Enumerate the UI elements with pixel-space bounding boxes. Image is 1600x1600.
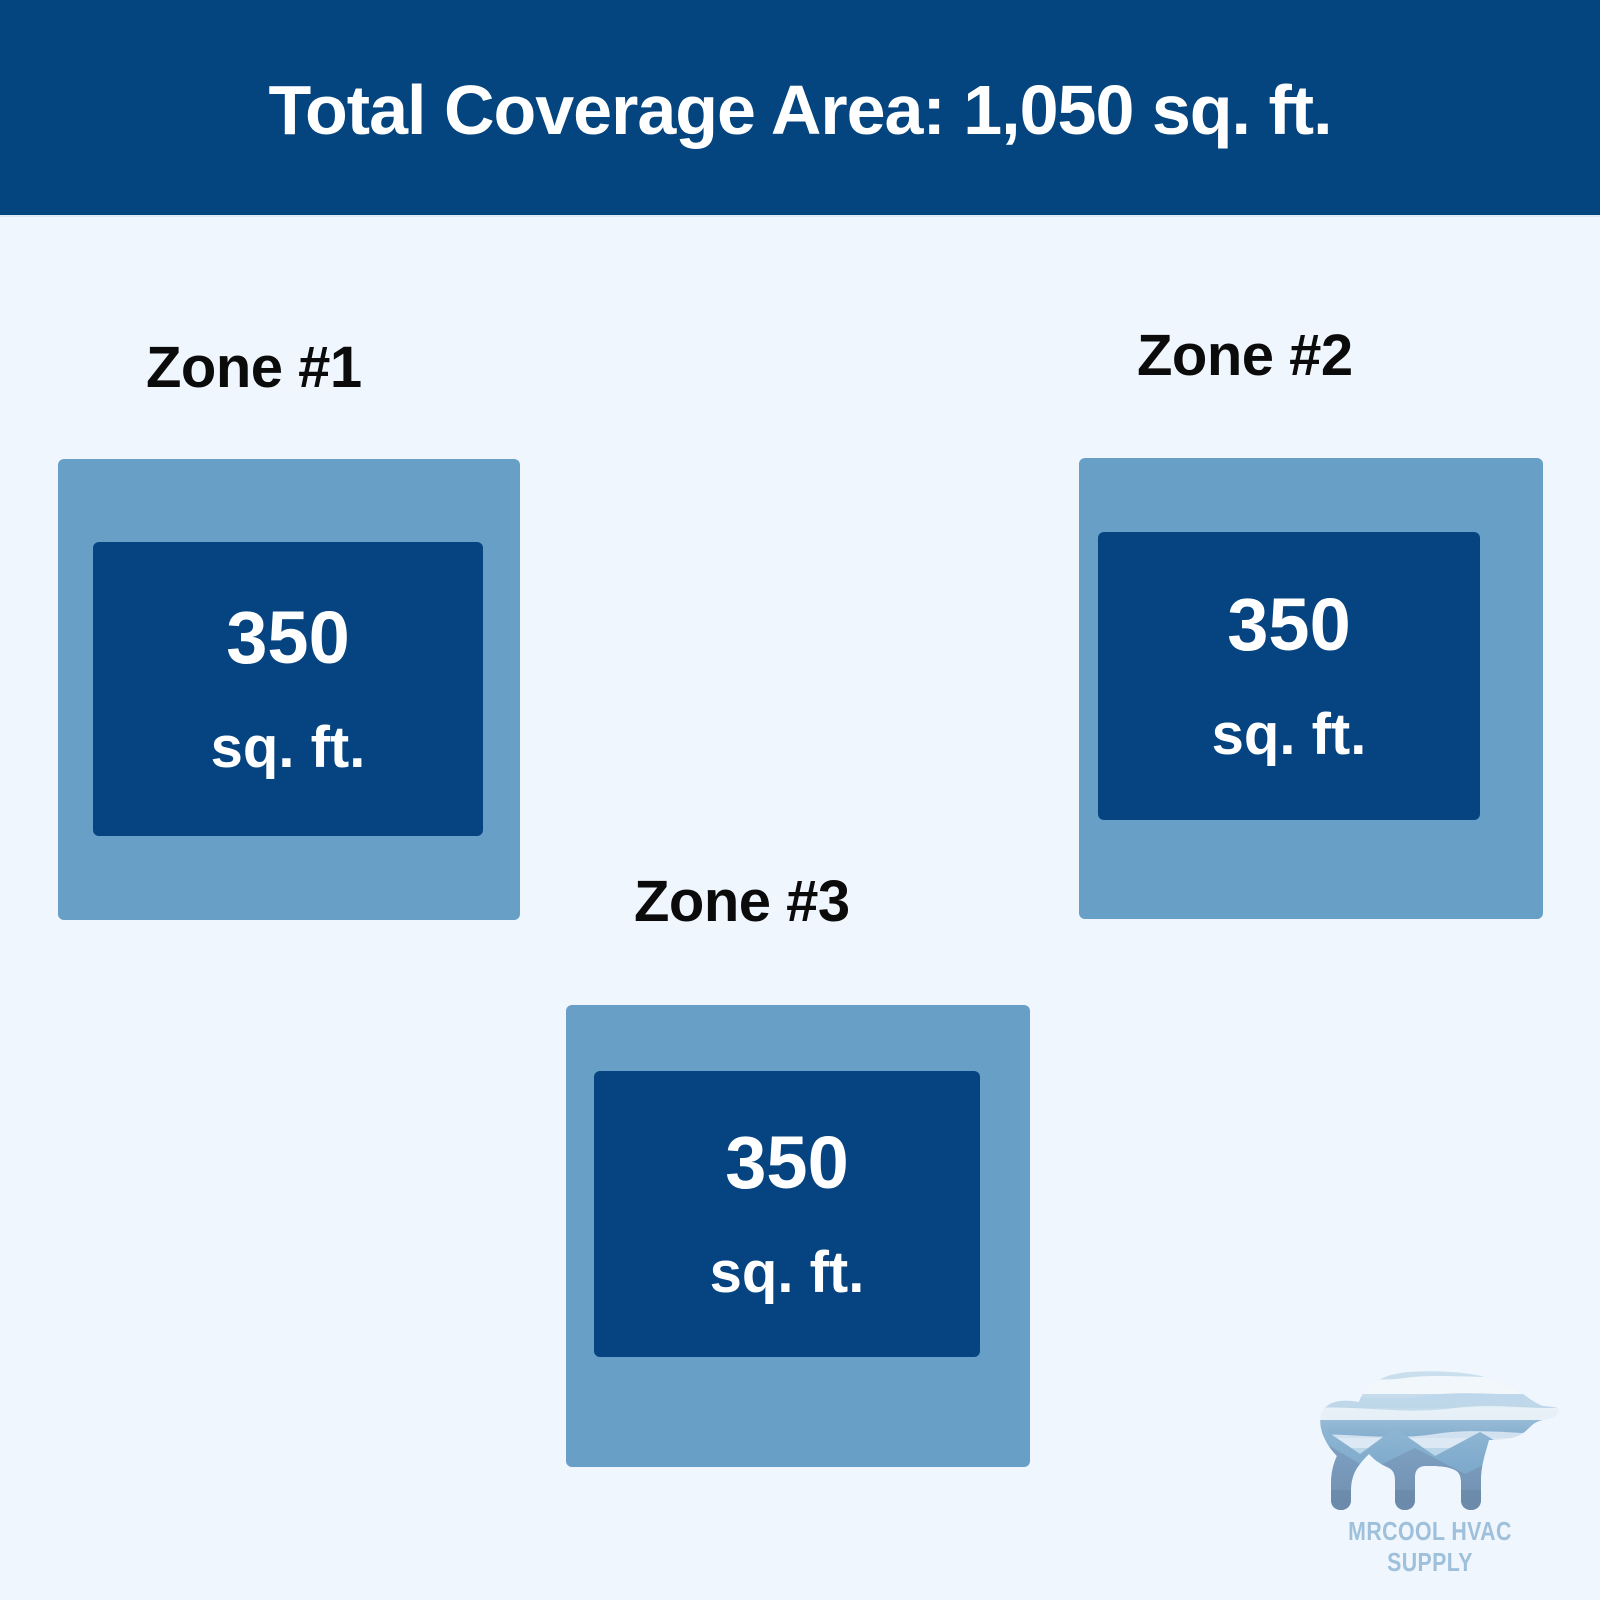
zone-3-unit: sq. ft. [710,1244,865,1302]
zone-1-outer-area: 350 sq. ft. [58,459,520,920]
zone-3-coverage-card: 350 sq. ft. [594,1071,980,1357]
polar-bear-icon [1285,1350,1575,1525]
zone-2-coverage-card: 350 sq. ft. [1098,532,1480,820]
brand-logo: MRCOOL HVAC SUPPLY [1285,1350,1575,1565]
zone-2-label: Zone #2 [1137,327,1353,385]
zone-2-value: 350 [1227,588,1350,662]
zone-1-value: 350 [226,601,349,675]
header-band: Total Coverage Area: 1,050 sq. ft. [0,0,1600,217]
zone-3-outer-area: 350 sq. ft. [566,1005,1030,1467]
zone-1-coverage-card: 350 sq. ft. [93,542,483,836]
zone-1-label: Zone #1 [146,339,362,397]
zone-1-unit: sq. ft. [211,719,366,777]
zone-3-label: Zone #3 [634,873,850,931]
zone-3-value: 350 [725,1126,848,1200]
page-title: Total Coverage Area: 1,050 sq. ft. [268,71,1331,145]
zone-2-outer-area: 350 sq. ft. [1079,458,1543,919]
zone-2-unit: sq. ft. [1212,706,1367,764]
brand-name: MRCOOL HVAC SUPPLY [1311,1516,1549,1578]
